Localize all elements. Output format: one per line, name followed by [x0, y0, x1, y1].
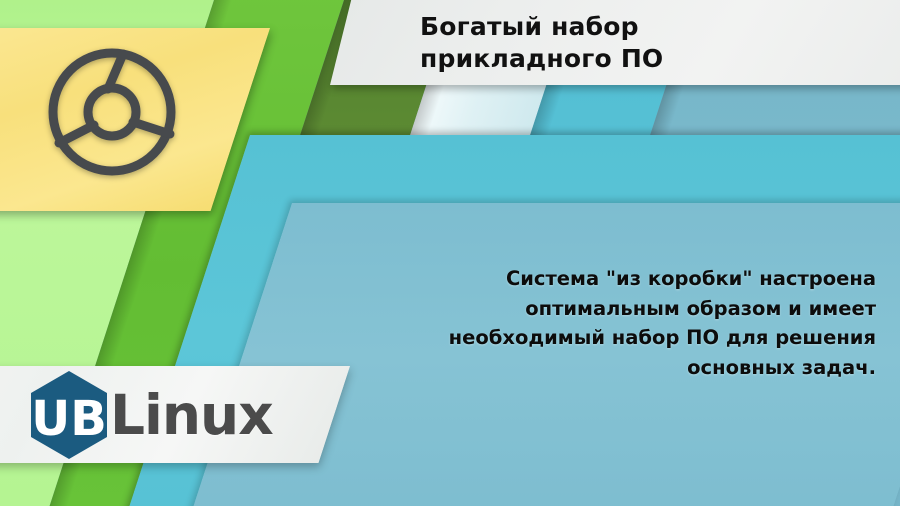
ub-hexagon-icon: UB [26, 369, 112, 461]
page-title-line-1: Богатый набор [420, 11, 890, 44]
page-title: Богатый набор прикладного ПО [420, 4, 890, 82]
slide-canvas: UB Богатый набор прикладного ПО Система … [0, 0, 900, 506]
page-title-line-2: прикладного ПО [420, 43, 890, 76]
body-paragraph: Система "из коробки" настроена оптимальн… [416, 264, 876, 383]
ublinux-logo: UB Linux [26, 372, 273, 458]
ub-mark-letters: UB [31, 391, 107, 447]
ublinux-wordmark: Linux [110, 388, 273, 443]
chrome-pinwheel-icon [42, 42, 182, 182]
